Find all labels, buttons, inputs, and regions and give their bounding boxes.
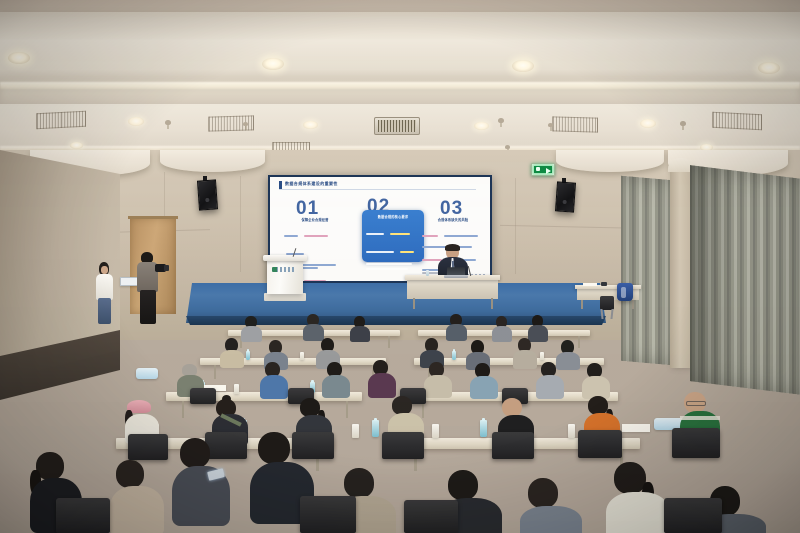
torso <box>446 324 467 341</box>
chair <box>664 498 722 533</box>
lectern-body <box>267 260 303 294</box>
torso <box>424 375 452 398</box>
jacket-stripe <box>680 416 720 420</box>
presenter-laptop-base <box>444 275 468 278</box>
door-frame <box>128 216 178 219</box>
sprinkler-head <box>498 118 504 123</box>
downlight-icon <box>512 60 534 72</box>
wall-speaker <box>197 179 218 210</box>
torso <box>536 375 564 399</box>
water-bottle <box>372 420 379 437</box>
table-leg <box>388 336 390 348</box>
downlight-icon <box>262 58 284 70</box>
chair-legs <box>600 309 614 319</box>
paper-cup <box>352 424 359 438</box>
chair <box>128 434 168 460</box>
torso <box>520 506 582 533</box>
arched-soffit <box>160 150 265 172</box>
hvac-center-diffuser <box>374 117 420 135</box>
head-table <box>405 275 500 305</box>
chair <box>292 432 334 459</box>
water-bottle <box>452 351 456 360</box>
lectern-logo <box>272 267 295 272</box>
table-leg <box>578 336 580 348</box>
chair <box>382 432 424 459</box>
table-leg <box>214 365 216 379</box>
sprinkler-head <box>680 121 686 126</box>
table-leg <box>346 401 348 418</box>
torso <box>220 350 244 368</box>
torso <box>350 326 370 342</box>
water-bottle <box>246 351 250 360</box>
window-curtain <box>621 176 673 366</box>
torso <box>470 376 498 399</box>
chair <box>492 432 534 459</box>
downlight-icon <box>8 52 30 64</box>
tissue-box <box>136 368 158 379</box>
torso <box>492 326 512 342</box>
chair <box>404 500 458 533</box>
slide-column-heading: 数据合规的核心要求 <box>366 214 420 219</box>
wall-speaker <box>555 181 576 212</box>
water-bottle <box>426 270 429 276</box>
ceiling-soffit-band <box>0 12 800 84</box>
paper-cup <box>300 352 304 360</box>
torso <box>556 352 580 370</box>
paper-cup <box>234 384 239 394</box>
presenter-hair <box>445 244 460 251</box>
head <box>448 470 478 500</box>
head <box>180 438 210 468</box>
photographer-trousers <box>140 290 156 324</box>
sprinkler-head <box>243 122 248 126</box>
sprinkler-head <box>548 123 553 127</box>
downlight-icon <box>474 122 489 130</box>
head <box>344 468 374 498</box>
torso <box>260 375 288 399</box>
torso <box>322 375 350 398</box>
chair <box>205 432 247 459</box>
jacket-highlight <box>621 287 626 298</box>
downlight-icon <box>128 117 144 126</box>
torso <box>528 325 548 342</box>
slide-column-02-highlight-box: 数据合规的核心要求 <box>362 210 424 262</box>
downlight-icon <box>303 121 318 129</box>
eyeglasses-icon <box>686 401 706 406</box>
hvac-vent <box>36 111 86 130</box>
lectern-base <box>264 293 306 301</box>
chair <box>190 388 216 404</box>
wall-pilaster <box>670 168 692 368</box>
slide-number-03: 03 <box>440 199 463 218</box>
water-bottle <box>480 420 487 437</box>
torso <box>368 373 396 398</box>
hvac-vent <box>712 112 762 131</box>
curtain-shadow <box>690 165 800 395</box>
torso <box>241 326 262 342</box>
side-table-papers <box>583 283 597 286</box>
hvac-vent <box>552 116 598 132</box>
torso <box>513 350 537 369</box>
head-table-leg <box>491 298 493 309</box>
head <box>258 432 290 464</box>
handout-paper <box>622 424 650 432</box>
chair <box>56 498 110 533</box>
chair <box>672 428 720 458</box>
downlight-icon <box>640 119 656 128</box>
downlight-icon <box>758 62 780 74</box>
head-table-leg <box>413 298 415 309</box>
wall-panel-seam <box>240 176 241 272</box>
conference-hall-photo: 数据合规体系建设的重要性 01 02 03 保障企业合规经营 <box>0 0 800 533</box>
torso <box>606 492 670 533</box>
side-table-device <box>601 282 607 286</box>
slide-title: 数据合规体系建设的重要性 <box>285 181 338 187</box>
downlight-icon <box>70 142 83 149</box>
sprinkler-head <box>165 120 171 125</box>
side-table-leg <box>581 300 583 309</box>
exit-sign <box>531 163 555 176</box>
side-table-leg <box>632 300 634 309</box>
table-leg <box>182 401 184 418</box>
wall-panel-seam <box>515 178 516 274</box>
lectern <box>263 255 307 307</box>
chair <box>578 430 622 458</box>
attendee-jacket <box>96 274 113 300</box>
attendee-trousers <box>98 298 111 324</box>
slide-column-heading: 合规体系缺失的风险 <box>422 217 484 222</box>
camera-lens-icon <box>164 265 169 271</box>
head <box>528 478 558 508</box>
slide-number-01: 01 <box>296 199 319 218</box>
head <box>116 460 144 488</box>
paper-cup <box>540 352 544 360</box>
slide-column-heading: 保障企业合规经营 <box>284 217 346 222</box>
paper-cup <box>432 424 439 438</box>
lectern-top <box>263 255 307 261</box>
exit-sign-pictogram-icon <box>534 166 553 173</box>
torso <box>303 324 324 341</box>
empty-chair <box>600 296 614 310</box>
head-table-skirt <box>407 279 498 299</box>
paper-cup <box>568 424 575 438</box>
attendee-face <box>101 266 108 274</box>
arched-soffit <box>556 150 664 172</box>
sprinkler-head <box>505 145 510 149</box>
chair <box>300 496 356 533</box>
torso <box>110 486 164 533</box>
